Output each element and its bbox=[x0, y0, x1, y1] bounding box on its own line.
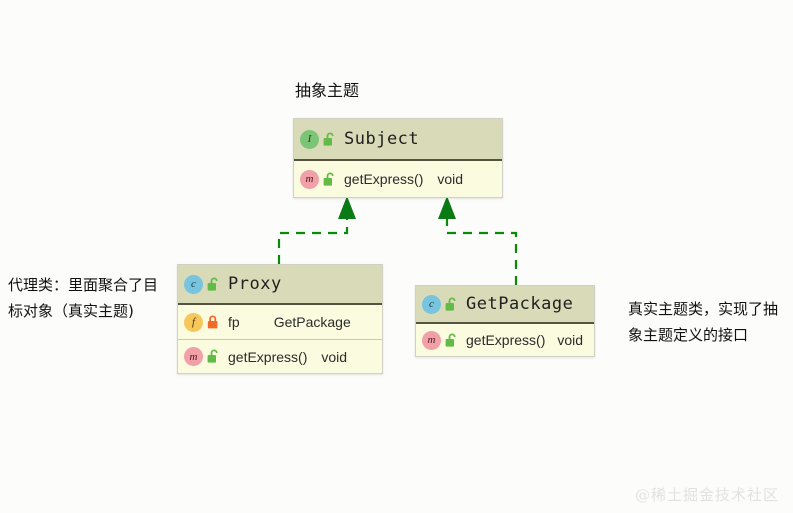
unlocked-padlock-icon bbox=[444, 296, 458, 312]
realization-getpackage-to-subject bbox=[438, 196, 516, 285]
triangle-arrowhead-icon bbox=[338, 196, 356, 219]
uml-class-header-proxy: c Proxy bbox=[178, 265, 382, 305]
uml-member-type: GetPackage bbox=[274, 314, 351, 330]
uml-member-type: void bbox=[437, 171, 463, 187]
uml-class-proxy[interactable]: c Proxy f fp GetPackage m bbox=[177, 264, 383, 374]
interface-kind-icon: I bbox=[300, 130, 319, 149]
unlocked-padlock-icon bbox=[322, 171, 336, 187]
uml-member-row: m getExpress() void bbox=[416, 324, 594, 356]
triangle-arrowhead-icon bbox=[438, 196, 456, 219]
unlocked-padlock-icon bbox=[444, 332, 458, 348]
uml-class-name-proxy: Proxy bbox=[228, 274, 282, 294]
class-kind-icon: c bbox=[422, 295, 441, 314]
diagram-canvas: 抽象主题 I Subject m getExpress() void bbox=[0, 0, 793, 513]
relationship-connectors bbox=[0, 0, 793, 513]
uml-member-type: void bbox=[557, 332, 583, 348]
uml-member-row: f fp GetPackage bbox=[178, 305, 382, 339]
uml-class-name-subject: Subject bbox=[344, 129, 419, 149]
uml-class-header-getpackage: c GetPackage bbox=[416, 286, 594, 324]
uml-member-name: fp bbox=[228, 314, 240, 330]
watermark-label: @稀土掘金技术社区 bbox=[635, 484, 779, 505]
uml-class-getpackage[interactable]: c GetPackage m getExpress() void bbox=[415, 285, 595, 357]
method-kind-icon: m bbox=[300, 170, 319, 189]
diagram-title-label: 抽象主题 bbox=[295, 80, 359, 102]
uml-class-header-subject: I Subject bbox=[294, 119, 502, 161]
annotation-left: 代理类：里面聚合了目标对象（真实主题) bbox=[8, 272, 168, 324]
uml-member-row: m getExpress() void bbox=[178, 339, 382, 373]
uml-member-row: m getExpress() void bbox=[294, 161, 502, 197]
realization-proxy-to-subject bbox=[279, 196, 356, 264]
uml-member-name: getExpress() bbox=[228, 349, 307, 365]
class-kind-icon: c bbox=[184, 275, 203, 294]
uml-class-name-getpackage: GetPackage bbox=[466, 294, 573, 314]
uml-class-subject[interactable]: I Subject m getExpress() void bbox=[293, 118, 503, 198]
unlocked-padlock-icon bbox=[206, 349, 220, 365]
annotation-right: 真实主题类，实现了抽象主题定义的接口 bbox=[628, 296, 788, 348]
unlocked-padlock-icon bbox=[322, 131, 336, 147]
uml-member-name: getExpress() bbox=[344, 171, 423, 187]
method-kind-icon: m bbox=[422, 331, 441, 350]
method-kind-icon: m bbox=[184, 347, 203, 366]
locked-padlock-icon bbox=[206, 314, 220, 330]
uml-member-type: void bbox=[321, 349, 347, 365]
uml-member-name: getExpress() bbox=[466, 332, 545, 348]
field-kind-icon: f bbox=[184, 313, 203, 332]
unlocked-padlock-icon bbox=[206, 276, 220, 292]
